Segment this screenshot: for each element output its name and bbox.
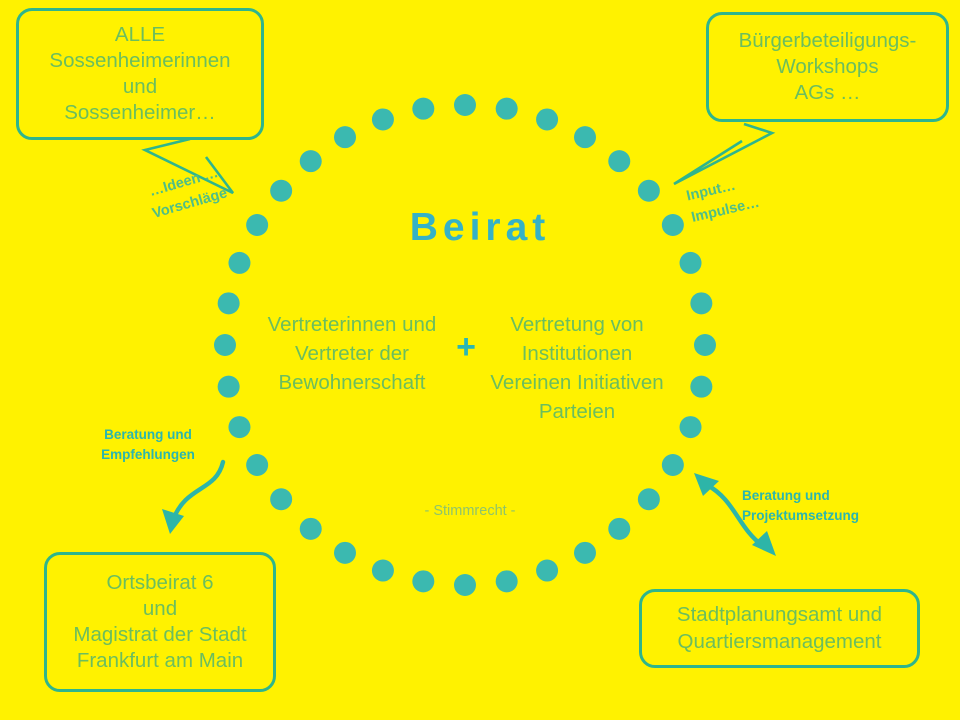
center-left-column: Vertreterinnen und Vertreter der Bewohne… [257, 310, 447, 397]
annotation-beratung-projektumsetzung-line: Beratung und [742, 488, 830, 503]
circle-dot [412, 570, 434, 592]
center-left-line: Bewohnerschaft [278, 371, 425, 394]
box-ortsbeirat-line: Ortsbeirat 6 [47, 570, 273, 596]
callout-workshops: Bürgerbeteiligungs- Workshops AGs … [706, 12, 949, 122]
annotation-beratung-empfehlungen: Beratung und Empfehlungen [78, 425, 218, 464]
circle-dot [536, 560, 558, 582]
circle-dot [454, 94, 476, 116]
circle-dot [228, 416, 250, 438]
box-stadtplanung-line: Quartiersmanagement [642, 629, 917, 655]
circle-dot [496, 570, 518, 592]
circle-dot [300, 150, 322, 172]
annotation-beratung-empfehlungen-line: Beratung und [104, 427, 192, 442]
center-right-line: Parteien [539, 400, 615, 423]
circle-dot [334, 542, 356, 564]
circle-dot [270, 488, 292, 510]
annotation-beratung-projektumsetzung: Beratung und Projektumsetzung [742, 486, 922, 525]
stimmrecht-footnote: - Stimmrecht - [335, 503, 605, 519]
box-ortsbeirat-line: und [47, 596, 273, 622]
circle-dot [270, 180, 292, 202]
callout-citizens-line: ALLE [19, 22, 261, 48]
annotation-beratung-empfehlungen-line: Empfehlungen [101, 447, 195, 462]
circle-dot [662, 454, 684, 476]
callout-citizens-line: Sossenheimer… [19, 100, 261, 126]
diagram-canvas: Beirat + Vertreterinnen und Vertreter de… [0, 0, 960, 720]
circle-dot [372, 560, 394, 582]
callout-citizens-line: Sossenheimerinnen [19, 48, 261, 74]
callout-citizens-line: und [19, 74, 261, 100]
box-stadtplanung-line: Stadtplanungsamt und [642, 602, 917, 628]
center-right-line: Vertretung [510, 313, 605, 336]
callout-citizens: ALLE Sossenheimerinnen und Sossenheimer… [16, 8, 264, 140]
circle-dot [228, 252, 250, 274]
circle-dot [334, 126, 356, 148]
center-left-line: der [379, 342, 409, 365]
circle-dot [638, 180, 660, 202]
circle-dot [496, 98, 518, 120]
center-right-line: von [611, 313, 644, 336]
center-right-column: Vertretung von Institutionen Vereinen In… [482, 310, 672, 426]
circle-dot [608, 150, 630, 172]
box-stadtplanung: Stadtplanungsamt und Quartiersmanagement [639, 589, 920, 668]
circle-dot [300, 518, 322, 540]
callout-workshops-line: Workshops [709, 54, 946, 80]
center-right-line: Initiativen [577, 371, 664, 394]
circle-dot [246, 454, 268, 476]
circle-dot [214, 334, 236, 356]
box-ortsbeirat-line: Magistrat der Stadt [47, 622, 273, 648]
center-right-line: Vereinen [490, 371, 571, 394]
callout-workshops-line: Bürgerbeteiligungs- [709, 28, 946, 54]
circle-dot [536, 108, 558, 130]
circle-dot [454, 574, 476, 596]
annotation-beratung-projektumsetzung-line: Projektumsetzung [742, 508, 859, 523]
circle-dot [218, 292, 240, 314]
callout-workshops-line: AGs … [709, 80, 946, 106]
circle-dot [638, 488, 660, 510]
circle-dot [680, 416, 702, 438]
circle-dot [680, 252, 702, 274]
box-ortsbeirat: Ortsbeirat 6 und Magistrat der Stadt Fra… [44, 552, 276, 692]
circle-dot [608, 518, 630, 540]
circle-dot [372, 108, 394, 130]
circle-dot [412, 98, 434, 120]
arrow-beratung-empfehlungen [162, 462, 223, 534]
circle-dot [694, 334, 716, 356]
box-ortsbeirat-line: Frankfurt am Main [47, 648, 273, 674]
center-left-line: Vertreterinnen [268, 313, 397, 336]
circle-dot [574, 126, 596, 148]
circle-dot [690, 376, 712, 398]
circle-dot [574, 542, 596, 564]
circle-dot [690, 292, 712, 314]
center-right-line: Institutionen [522, 342, 633, 365]
circle-dot [218, 376, 240, 398]
